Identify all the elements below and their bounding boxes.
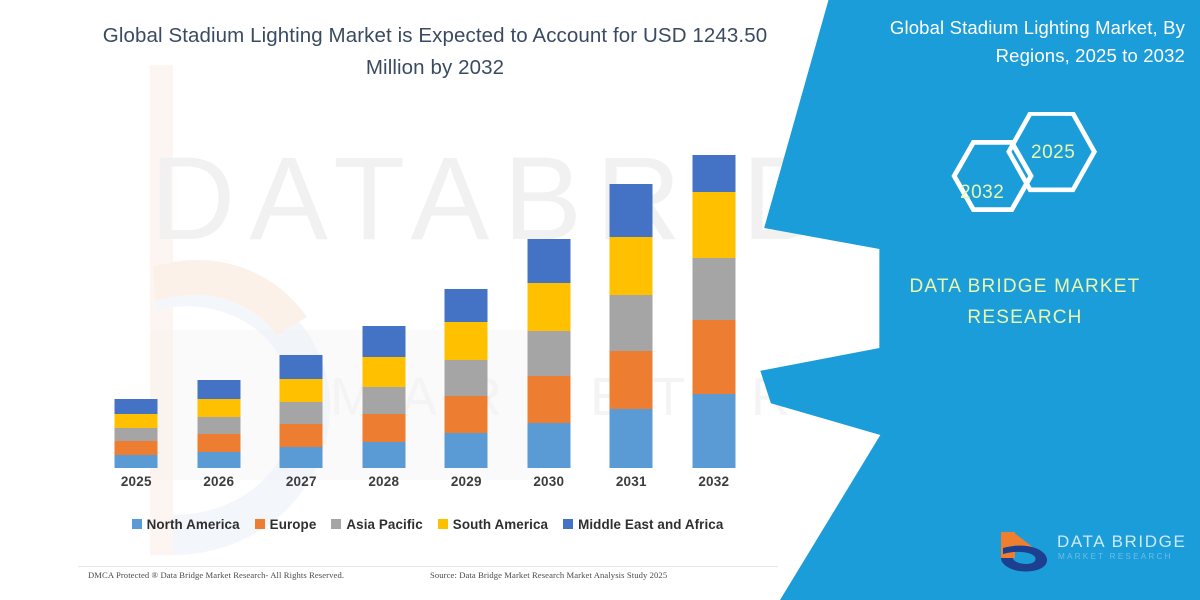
legend-item[interactable]: South America	[438, 517, 548, 532]
stacked-bar	[362, 326, 405, 468]
bar-column	[508, 120, 591, 468]
infographic-canvas: DATABRIDGE MARKET RESEARCH Global Stadiu…	[0, 0, 1200, 600]
bar-column	[260, 120, 343, 468]
legend-swatch-icon	[331, 519, 341, 529]
bar-segment	[692, 192, 735, 258]
legend-label: Middle East and Africa	[578, 517, 723, 532]
bar-segment	[280, 424, 323, 447]
bar-column	[343, 120, 426, 468]
bar-column	[590, 120, 673, 468]
bar-column	[673, 120, 756, 468]
x-axis-label: 2028	[343, 474, 426, 489]
legend-swatch-icon	[255, 519, 265, 529]
hexagon-label-end-year: 2032	[960, 182, 1004, 204]
bar-segment	[445, 360, 488, 396]
stacked-bar	[527, 239, 570, 468]
chart-plot-area	[95, 120, 755, 468]
bar-segment	[115, 414, 158, 428]
x-axis-label: 2030	[508, 474, 591, 489]
chart-legend: North AmericaEuropeAsia PacificSouth Ame…	[95, 512, 760, 536]
x-axis-label: 2026	[178, 474, 261, 489]
bar-segment	[445, 396, 488, 433]
footer-copyright: DMCA Protected ® Data Bridge Market Rese…	[88, 570, 344, 580]
bar-segment	[527, 239, 570, 283]
bar-segment	[610, 295, 653, 351]
brand-name-line2: RESEARCH	[880, 303, 1170, 334]
stacked-bar	[445, 289, 488, 468]
legend-item[interactable]: North America	[132, 517, 240, 532]
x-axis-label: 2027	[260, 474, 343, 489]
bar-segment	[197, 452, 240, 468]
bar-segment	[692, 320, 735, 394]
footer-divider	[78, 566, 778, 567]
panel-title: Global Stadium Lighting Market, By Regio…	[840, 14, 1185, 70]
bar-segment	[115, 441, 158, 455]
legend-swatch-icon	[438, 519, 448, 529]
logo-text: DATA BRIDGE	[1057, 532, 1186, 552]
hexagon-year-group: 2025 2032	[925, 112, 1115, 232]
stacked-bar	[197, 380, 240, 468]
footer: DMCA Protected ® Data Bridge Market Rese…	[0, 566, 790, 592]
bar-segment	[610, 184, 653, 237]
bar-segment	[115, 399, 158, 414]
bar-segment	[362, 357, 405, 387]
bar-column	[425, 120, 508, 468]
bar-segment	[692, 155, 735, 192]
bar-segment	[692, 258, 735, 320]
legend-swatch-icon	[132, 519, 142, 529]
legend-label: Asia Pacific	[346, 517, 422, 532]
bar-segment	[280, 355, 323, 379]
bar-segment	[280, 402, 323, 424]
bar-column	[95, 120, 178, 468]
bar-segment	[197, 399, 240, 417]
bar-segment	[527, 423, 570, 468]
bar-segment	[445, 322, 488, 360]
bar-segment	[362, 387, 405, 414]
bar-segment	[115, 455, 158, 468]
legend-swatch-icon	[563, 519, 573, 529]
logo-subtext: MARKET RESEARCH	[1058, 552, 1173, 561]
hexagon-label-start-year: 2025	[1031, 142, 1075, 164]
legend-item[interactable]: Europe	[255, 517, 317, 532]
bar-segment	[445, 433, 488, 468]
brand-name: DATA BRIDGE MARKET RESEARCH	[880, 272, 1170, 334]
x-axis-label: 2032	[673, 474, 756, 489]
bar-segment	[362, 326, 405, 357]
x-axis-label: 2031	[590, 474, 673, 489]
legend-label: South America	[453, 517, 548, 532]
bar-segment	[197, 417, 240, 434]
bar-segment	[197, 380, 240, 399]
x-axis-label: 2029	[425, 474, 508, 489]
stacked-bar	[115, 399, 158, 468]
bar-segment	[610, 237, 653, 295]
bar-segment	[362, 442, 405, 468]
stacked-bar	[280, 355, 323, 468]
stacked-bar	[692, 155, 735, 468]
bar-segment	[115, 428, 158, 441]
bar-segment	[527, 283, 570, 331]
data-bridge-logo-icon	[995, 528, 1053, 574]
bar-segment	[527, 376, 570, 423]
legend-label: Europe	[270, 517, 317, 532]
page-title: Global Stadium Lighting Market is Expect…	[95, 20, 775, 84]
bar-segment	[280, 447, 323, 468]
bar-segment	[362, 414, 405, 442]
stacked-bar	[610, 184, 653, 468]
bar-segment	[692, 394, 735, 468]
bar-segment	[610, 351, 653, 409]
hexagon-outlines-icon	[925, 112, 1115, 232]
footer-source: Source: Data Bridge Market Research Mark…	[430, 570, 667, 580]
bar-segment	[280, 379, 323, 402]
x-axis-labels: 20252026202720282029203020312032	[95, 474, 755, 496]
company-logo: DATA BRIDGE MARKET RESEARCH	[995, 528, 1191, 576]
bar-segment	[197, 434, 240, 452]
bar-column	[178, 120, 261, 468]
legend-item[interactable]: Asia Pacific	[331, 517, 422, 532]
bar-segment	[610, 409, 653, 468]
stacked-bar-group	[95, 120, 755, 468]
bar-segment	[445, 289, 488, 322]
legend-item[interactable]: Middle East and Africa	[563, 517, 723, 532]
brand-name-line1: DATA BRIDGE MARKET	[880, 272, 1170, 303]
legend-label: North America	[147, 517, 240, 532]
bar-segment	[527, 331, 570, 376]
x-axis-label: 2025	[95, 474, 178, 489]
